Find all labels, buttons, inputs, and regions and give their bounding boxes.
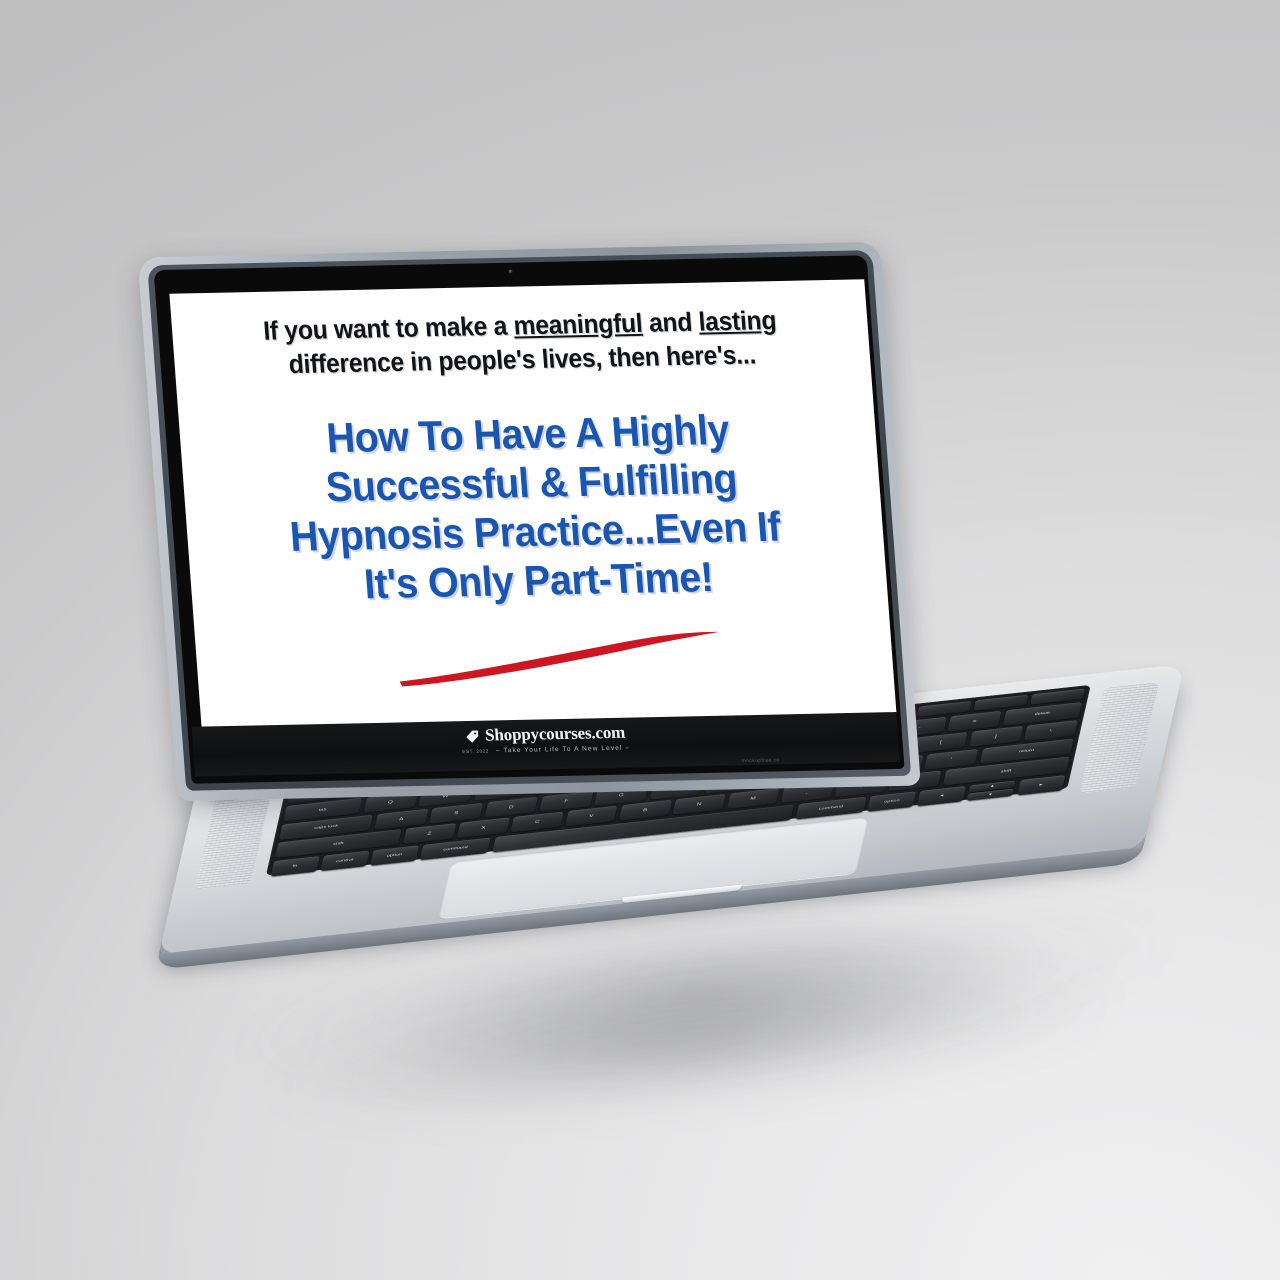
kicker-line1-mid: and — [641, 307, 699, 338]
kicker-line1-pre: If you want to make a — [262, 311, 514, 346]
kicker-underline-meaningful: meaningful — [512, 308, 643, 341]
screen-content: If you want to make a meaningful and las… — [169, 279, 896, 727]
display-panel: If you want to make a meaningful and las… — [154, 255, 905, 784]
brand-est: EST. 2022 — [462, 749, 489, 755]
kicker-line2: difference in people's lives, then here'… — [288, 340, 757, 380]
display-bezel: If you want to make a meaningful and las… — [147, 250, 911, 791]
watermark-text: mockupfree.co — [741, 757, 779, 764]
laptop-device: esc ` 1 — [0, 0, 1280, 1280]
kicker-underline-lasting: lasting — [697, 305, 777, 337]
scene: esc ` 1 — [0, 0, 1280, 1280]
laptop-lid: If you want to make a meaningful and las… — [138, 242, 921, 801]
webcam-icon — [509, 270, 513, 274]
price-tag-icon — [465, 728, 481, 743]
red-swoosh-icon — [392, 629, 726, 690]
brand-tagline: – Take Your Life To A New Level – — [496, 745, 631, 755]
kicker-text: If you want to make a meaningful and las… — [258, 303, 785, 383]
headline-text: How To Have A Highly Successful & Fulfil… — [253, 403, 813, 610]
brand-name: Shoppycourses.com — [484, 723, 625, 746]
